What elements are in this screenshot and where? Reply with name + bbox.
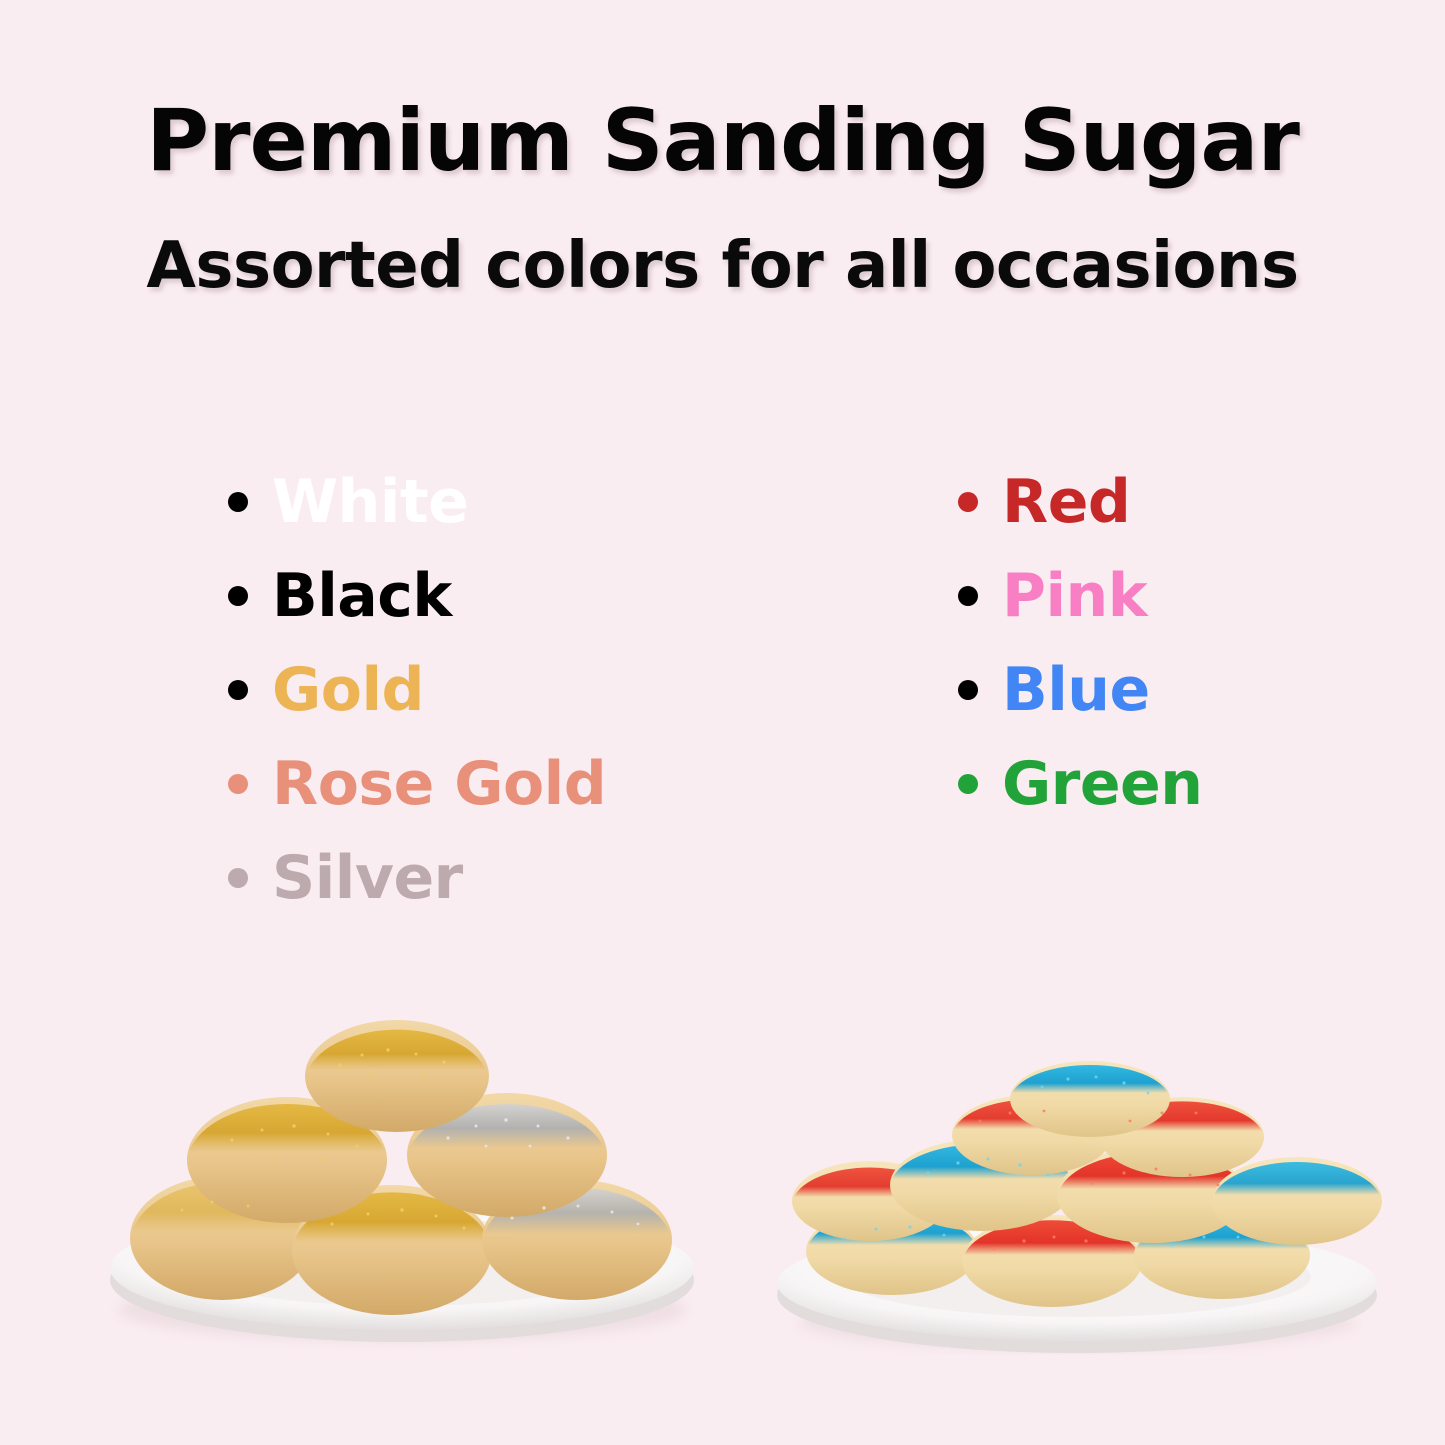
bullet-icon [228,586,248,606]
heading-block: Premium Sanding Sugar Assorted colors fo… [0,0,1445,298]
color-option-gold: Gold [228,643,606,737]
color-option-label: White [272,472,468,532]
bullet-icon [228,868,248,888]
page-title: Premium Sanding Sugar [0,0,1445,184]
color-option-label: Black [272,566,452,626]
color-option-label: Rose Gold [272,754,606,814]
bullet-icon [958,680,978,700]
color-option-rose-gold: Rose Gold [228,737,606,831]
bullet-icon [228,680,248,700]
color-option-silver: Silver [228,831,606,925]
product-photos [0,955,1445,1355]
color-option-blue: Blue [958,643,1202,737]
bullet-icon [958,774,978,794]
bullet-icon [228,492,248,512]
color-option-label: Pink [1002,566,1147,626]
gold-and-silver-sanding-sugar-cookies-photo [72,1010,732,1355]
color-option-label: Gold [272,660,424,720]
color-list-right: RedPinkBlueGreen [958,455,1202,831]
color-option-green: Green [958,737,1202,831]
color-list-left: WhiteBlackGoldRose GoldSilver [228,455,606,925]
color-option-white: White [228,455,606,549]
color-option-black: Black [228,549,606,643]
color-option-red: Red [958,455,1202,549]
color-option-label: Silver [272,848,463,908]
page-subtitle: Assorted colors for all occasions [0,184,1445,298]
red-and-blue-sanding-sugar-cookies-photo [752,1055,1402,1355]
color-option-label: Red [1002,472,1130,532]
color-option-label: Blue [1002,660,1150,720]
color-option-label: Green [1002,754,1202,814]
bullet-icon [228,774,248,794]
bullet-icon [958,586,978,606]
color-options: WhiteBlackGoldRose GoldSilver RedPinkBlu… [0,455,1445,925]
bullet-icon [958,492,978,512]
color-option-pink: Pink [958,549,1202,643]
